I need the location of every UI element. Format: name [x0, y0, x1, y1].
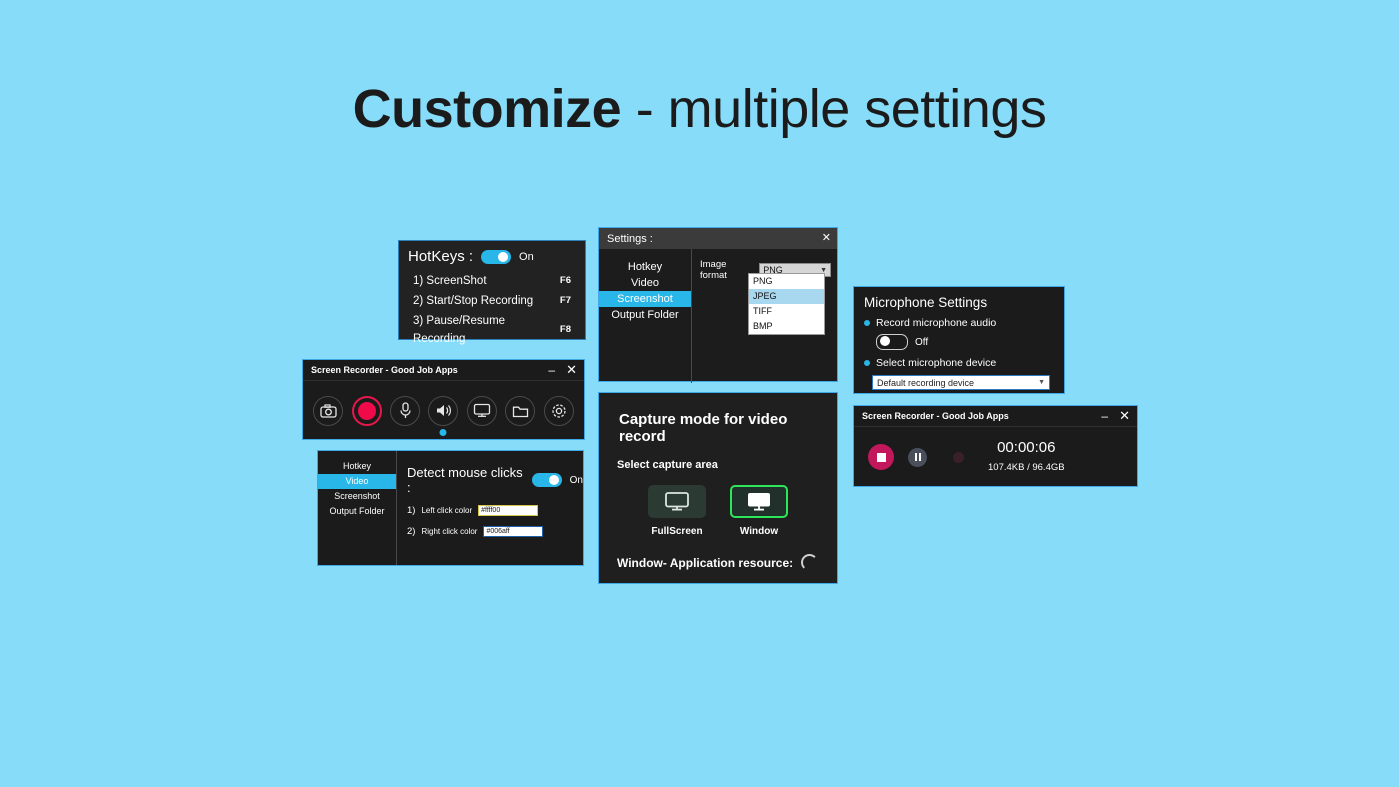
sidebar-item-output-folder[interactable]: Output Folder: [599, 307, 691, 323]
application-resource-row: Window- Application resource:: [599, 537, 837, 571]
window-option[interactable]: Window: [730, 485, 788, 537]
page-title: Customize - multiple settings: [0, 78, 1399, 140]
recorder-window-title: Screen Recorder - Good Job Apps: [311, 365, 458, 375]
bullet-icon: [864, 360, 870, 366]
image-format-label: Image format: [700, 259, 753, 281]
capture-mode-panel: Capture mode for video record Select cap…: [598, 392, 838, 584]
sidebar-item-video[interactable]: Video: [318, 474, 396, 489]
detect-sidebar: Hotkey Video Screenshot Output Folder: [318, 451, 397, 565]
settings-body: Hotkey Video Screenshot Output Folder Im…: [599, 249, 837, 383]
loading-spinner-icon: [801, 554, 818, 571]
detect-content: Detect mouse clicks : On 1) Left click c…: [397, 451, 583, 565]
hotkey-label: 3) Pause/Resume Recording: [413, 312, 560, 348]
detect-toggle[interactable]: [532, 473, 562, 487]
speaker-icon[interactable]: [428, 396, 458, 426]
record-audio-row: Record microphone audio: [854, 310, 1064, 329]
settings-title: Settings :: [607, 233, 653, 245]
folder-icon[interactable]: [505, 396, 535, 426]
detect-toggle-state: On: [570, 475, 583, 486]
window-controls: ‒ ✕: [1101, 410, 1130, 422]
record-indicator-dim: [953, 452, 964, 463]
recording-size: 107.4KB / 96.4GB: [988, 462, 1065, 473]
hotkey-label: 1) ScreenShot: [413, 272, 487, 290]
chevron-down-icon: ▼: [1038, 379, 1045, 386]
page-title-bold: Customize: [353, 79, 622, 139]
microphone-panel-title: Microphone Settings: [854, 287, 1064, 310]
detect-body: Hotkey Video Screenshot Output Folder De…: [318, 451, 583, 565]
image-format-options[interactable]: PNG JPEG TIFF BMP: [748, 273, 825, 335]
recording-controls: 00:00:06 107.4KB / 96.4GB: [854, 427, 1137, 487]
left-click-color-input[interactable]: #ffff00: [478, 505, 538, 516]
hotkey-key: F8: [560, 321, 571, 339]
stop-icon: [877, 453, 886, 462]
settings-dialog: Settings : ✕ Hotkey Video Screenshot Out…: [598, 227, 838, 382]
record-audio-label: Record microphone audio: [876, 317, 996, 329]
toggle-knob: [880, 336, 890, 346]
window-tile[interactable]: [730, 485, 788, 518]
hotkeys-list: 1) ScreenShot F6 2) Start/Stop Recording…: [399, 271, 585, 349]
recorder-titlebar: Screen Recorder - Good Job Apps ‒ ✕: [303, 360, 584, 381]
capture-mode-title: Capture mode for video record: [599, 393, 837, 445]
hotkey-label: 2) Start/Stop Recording: [413, 292, 533, 310]
pause-icon: [915, 453, 917, 461]
speaker-active-dot: [440, 429, 447, 436]
detect-mouse-clicks-panel: Hotkey Video Screenshot Output Folder De…: [317, 450, 584, 566]
recording-window-title: Screen Recorder - Good Job Apps: [862, 411, 1009, 421]
hotkey-row[interactable]: 1) ScreenShot F6: [399, 271, 585, 291]
record-audio-toggle-row: Off: [854, 329, 1064, 350]
microphone-device-select[interactable]: Default recording device ▼: [872, 375, 1050, 390]
row-number: 2): [407, 526, 415, 537]
select-device-label: Select microphone device: [876, 357, 996, 369]
page-title-rest: - multiple settings: [621, 79, 1046, 139]
minimize-icon[interactable]: ‒: [1101, 411, 1108, 421]
record-audio-toggle[interactable]: [876, 334, 908, 350]
record-icon[interactable]: [352, 396, 382, 426]
stop-button[interactable]: [868, 444, 894, 470]
capture-tiles: FullScreen Window: [599, 471, 837, 537]
capture-area-subtitle: Select capture area: [599, 445, 837, 471]
recording-stats: 00:00:06 107.4KB / 96.4GB: [988, 439, 1065, 475]
gear-icon[interactable]: [544, 396, 574, 426]
recording-titlebar: Screen Recorder - Good Job Apps ‒ ✕: [854, 406, 1137, 427]
sidebar-item-screenshot[interactable]: Screenshot: [599, 291, 691, 307]
hotkeys-title: HotKeys :: [408, 248, 473, 265]
close-icon[interactable]: ✕: [822, 230, 831, 247]
monitor-filled-icon: [746, 491, 772, 512]
sidebar-item-hotkey[interactable]: Hotkey: [599, 259, 691, 275]
right-click-color-row: 2) Right click color #006aff: [407, 516, 583, 537]
recorder-window: Screen Recorder - Good Job Apps ‒ ✕: [302, 359, 585, 440]
sidebar-item-video[interactable]: Video: [599, 275, 691, 291]
window-controls: ‒ ✕: [548, 364, 577, 376]
screenshot-stage: Customize - multiple settings HotKeys : …: [0, 0, 1399, 787]
option-jpeg[interactable]: JPEG: [749, 289, 824, 304]
microphone-icon[interactable]: [390, 396, 420, 426]
hotkey-row[interactable]: 2) Start/Stop Recording F7: [399, 291, 585, 311]
hotkeys-toggle-state: On: [519, 251, 534, 263]
camera-icon[interactable]: [313, 396, 343, 426]
minimize-icon[interactable]: ‒: [548, 365, 555, 375]
microphone-device-value: Default recording device: [877, 378, 974, 388]
right-click-color-label: Right click color: [421, 527, 477, 536]
monitor-icon[interactable]: [467, 396, 497, 426]
option-tiff[interactable]: TIFF: [749, 304, 824, 319]
select-device-row: Select microphone device: [854, 350, 1064, 369]
option-bmp[interactable]: BMP: [749, 319, 824, 334]
close-icon[interactable]: ✕: [1119, 410, 1130, 422]
application-resource-label: Window- Application resource:: [617, 556, 793, 570]
option-png[interactable]: PNG: [749, 274, 824, 289]
record-dot: [358, 402, 376, 420]
pause-icon: [919, 453, 921, 461]
bullet-icon: [864, 320, 870, 326]
settings-sidebar: Hotkey Video Screenshot Output Folder: [599, 249, 692, 383]
fullscreen-tile[interactable]: [648, 485, 706, 518]
detect-heading: Detect mouse clicks :: [407, 465, 524, 495]
hotkeys-toggle[interactable]: [481, 250, 511, 264]
toggle-knob: [549, 475, 559, 485]
close-icon[interactable]: ✕: [566, 364, 577, 376]
fullscreen-label: FullScreen: [648, 526, 706, 537]
sidebar-item-screenshot[interactable]: Screenshot: [318, 489, 396, 504]
toggle-knob: [498, 252, 508, 262]
left-click-color-row: 1) Left click color #ffff00: [407, 495, 583, 516]
sidebar-item-hotkey[interactable]: Hotkey: [318, 459, 396, 474]
fullscreen-option[interactable]: FullScreen: [648, 485, 706, 537]
hotkey-row[interactable]: 3) Pause/Resume Recording F8: [399, 311, 585, 349]
detect-heading-row: Detect mouse clicks : On: [407, 465, 583, 495]
recording-status-window: Screen Recorder - Good Job Apps ‒ ✕ 00:0…: [853, 405, 1138, 487]
row-number: 1): [407, 505, 415, 516]
settings-titlebar: Settings : ✕: [599, 228, 837, 249]
hotkey-key: F7: [560, 292, 571, 310]
settings-content: Image format PNG ▼ PNG JPEG TIFF BMP: [692, 249, 837, 383]
window-label: Window: [730, 526, 788, 537]
right-click-color-input[interactable]: #006aff: [483, 526, 543, 537]
sidebar-item-output-folder[interactable]: Output Folder: [318, 504, 396, 519]
pause-button[interactable]: [908, 448, 927, 467]
recorder-toolbar: [303, 381, 584, 440]
hotkey-key: F6: [560, 272, 571, 290]
left-click-color-label: Left click color: [421, 506, 472, 515]
hotkeys-panel: HotKeys : On 1) ScreenShot F6 2) Start/S…: [398, 240, 586, 340]
monitor-outline-icon: [664, 491, 690, 512]
microphone-settings-panel: Microphone Settings Record microphone au…: [853, 286, 1065, 394]
record-audio-state: Off: [915, 337, 928, 348]
hotkeys-header: HotKeys : On: [399, 241, 585, 265]
recording-timer: 00:00:06: [997, 439, 1055, 456]
